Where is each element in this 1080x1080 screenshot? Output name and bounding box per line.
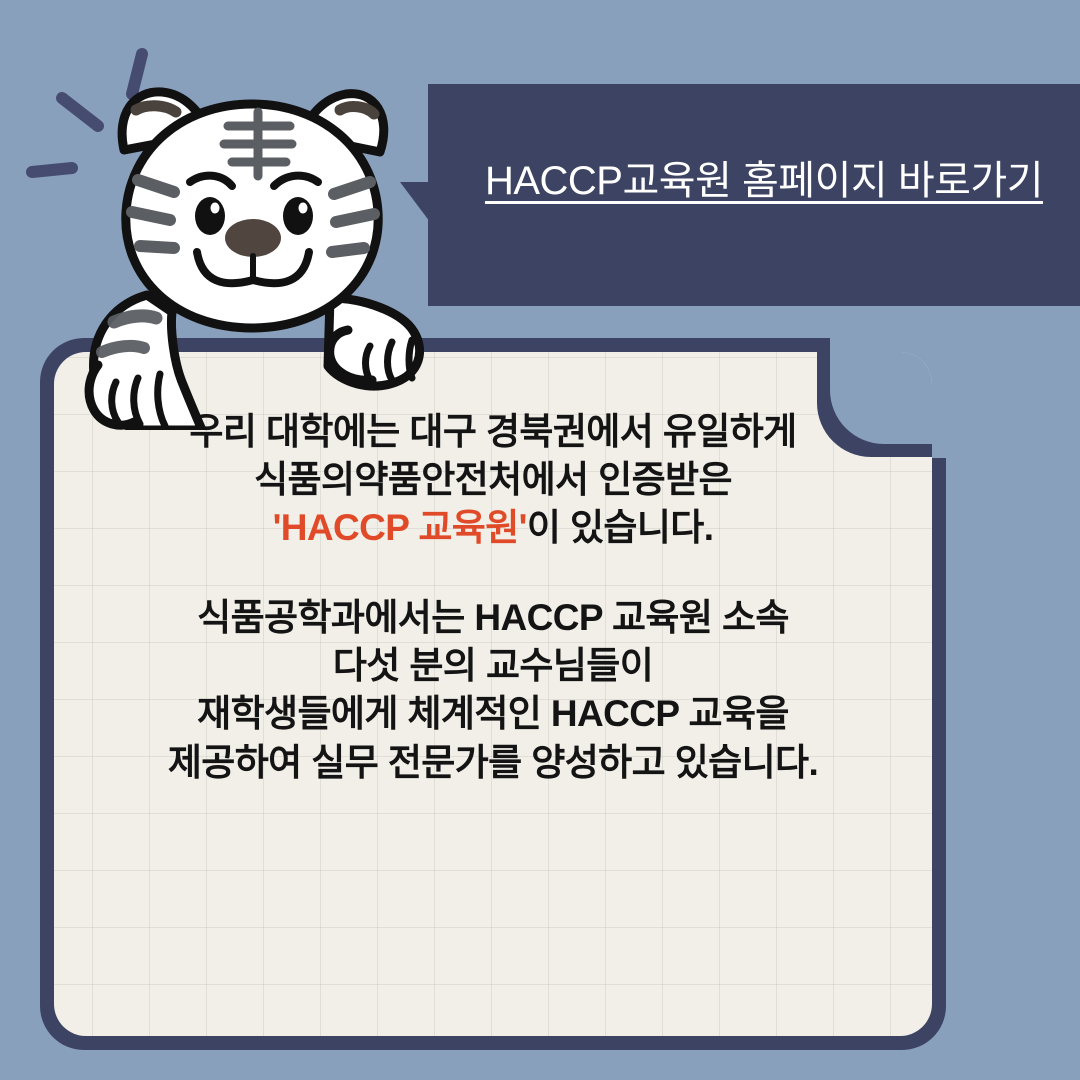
paragraph-1-line-2: 식품의약품안전처에서 인증받은: [54, 456, 932, 504]
card-inner-surface: 우리 대학에는 대구 경북권에서 유일하게 식품의약품안전처에서 인증받은 'H…: [54, 352, 932, 1036]
body-text-block: 우리 대학에는 대구 경북권에서 유일하게 식품의약품안전처에서 인증받은 'H…: [54, 408, 932, 787]
paragraph-1-line-3-tail: 이 있습니다.: [527, 507, 714, 548]
paragraph-2-line-3: 재학생들에게 체계적인 HACCP 교육을: [54, 690, 932, 738]
paragraph-2-line-1: 식품공학과에서는 HACCP 교육원 소속: [54, 594, 932, 642]
tiger-head: [122, 92, 384, 328]
haccp-homepage-link[interactable]: HACCP교육원 홈페이지 바로가기: [428, 156, 1080, 206]
tiger-eye-left: [195, 197, 225, 235]
paragraph-spacer: [54, 552, 932, 594]
white-tiger-mascot: [52, 30, 462, 430]
tiger-forehead-stripes: [224, 112, 292, 176]
tiger-right-arm: [328, 298, 420, 386]
poster-canvas: HACCP교육원 홈페이지 바로가기 우리 대학에는 대구 경북권에서 유일하게…: [0, 0, 1080, 1080]
tiger-nose: [225, 219, 281, 257]
header-banner[interactable]: HACCP교육원 홈페이지 바로가기: [428, 84, 1080, 306]
paragraph-2-line-2: 다섯 분의 교수님들이: [54, 642, 932, 690]
highlight-haccp-center: 'HACCP 교육원': [273, 507, 527, 548]
tiger-eye-right: [283, 197, 313, 235]
paragraph-2-line-4: 제공하여 실무 전문가를 양성하고 있습니다.: [54, 739, 932, 787]
content-card: 우리 대학에는 대구 경북권에서 유일하게 식품의약품안전처에서 인증받은 'H…: [40, 338, 946, 1050]
paragraph-2: 식품공학과에서는 HACCP 교육원 소속 다섯 분의 교수님들이 재학생들에게…: [54, 594, 932, 786]
paragraph-1-line-3: 'HACCP 교육원'이 있습니다.: [54, 504, 932, 552]
